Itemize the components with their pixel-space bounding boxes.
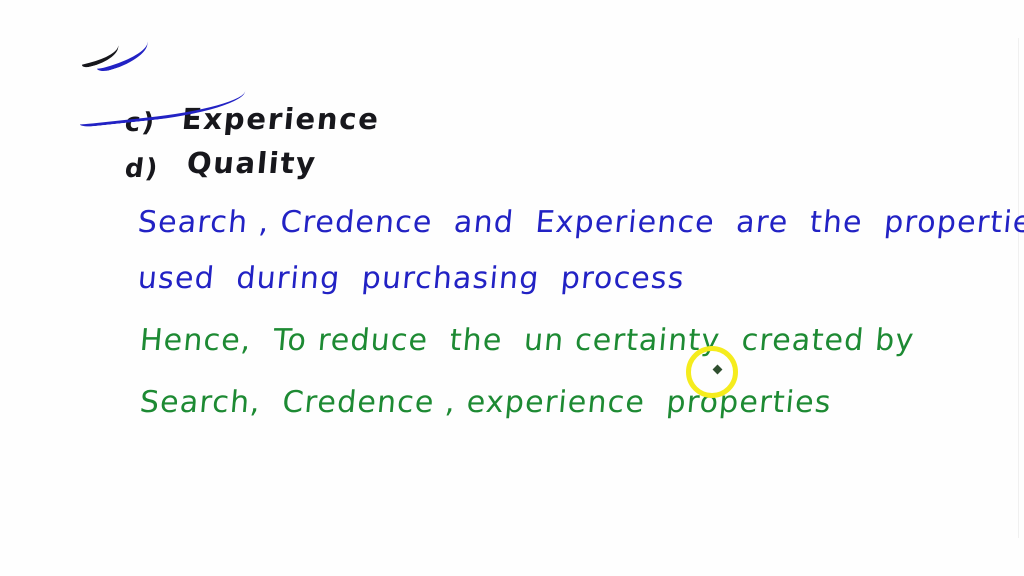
paper-edge-line xyxy=(1018,38,1019,538)
yellow-circle-highlight-icon xyxy=(686,346,738,398)
handwritten-note-page: c) Experience d) Quality Search , Creden… xyxy=(0,0,1024,576)
